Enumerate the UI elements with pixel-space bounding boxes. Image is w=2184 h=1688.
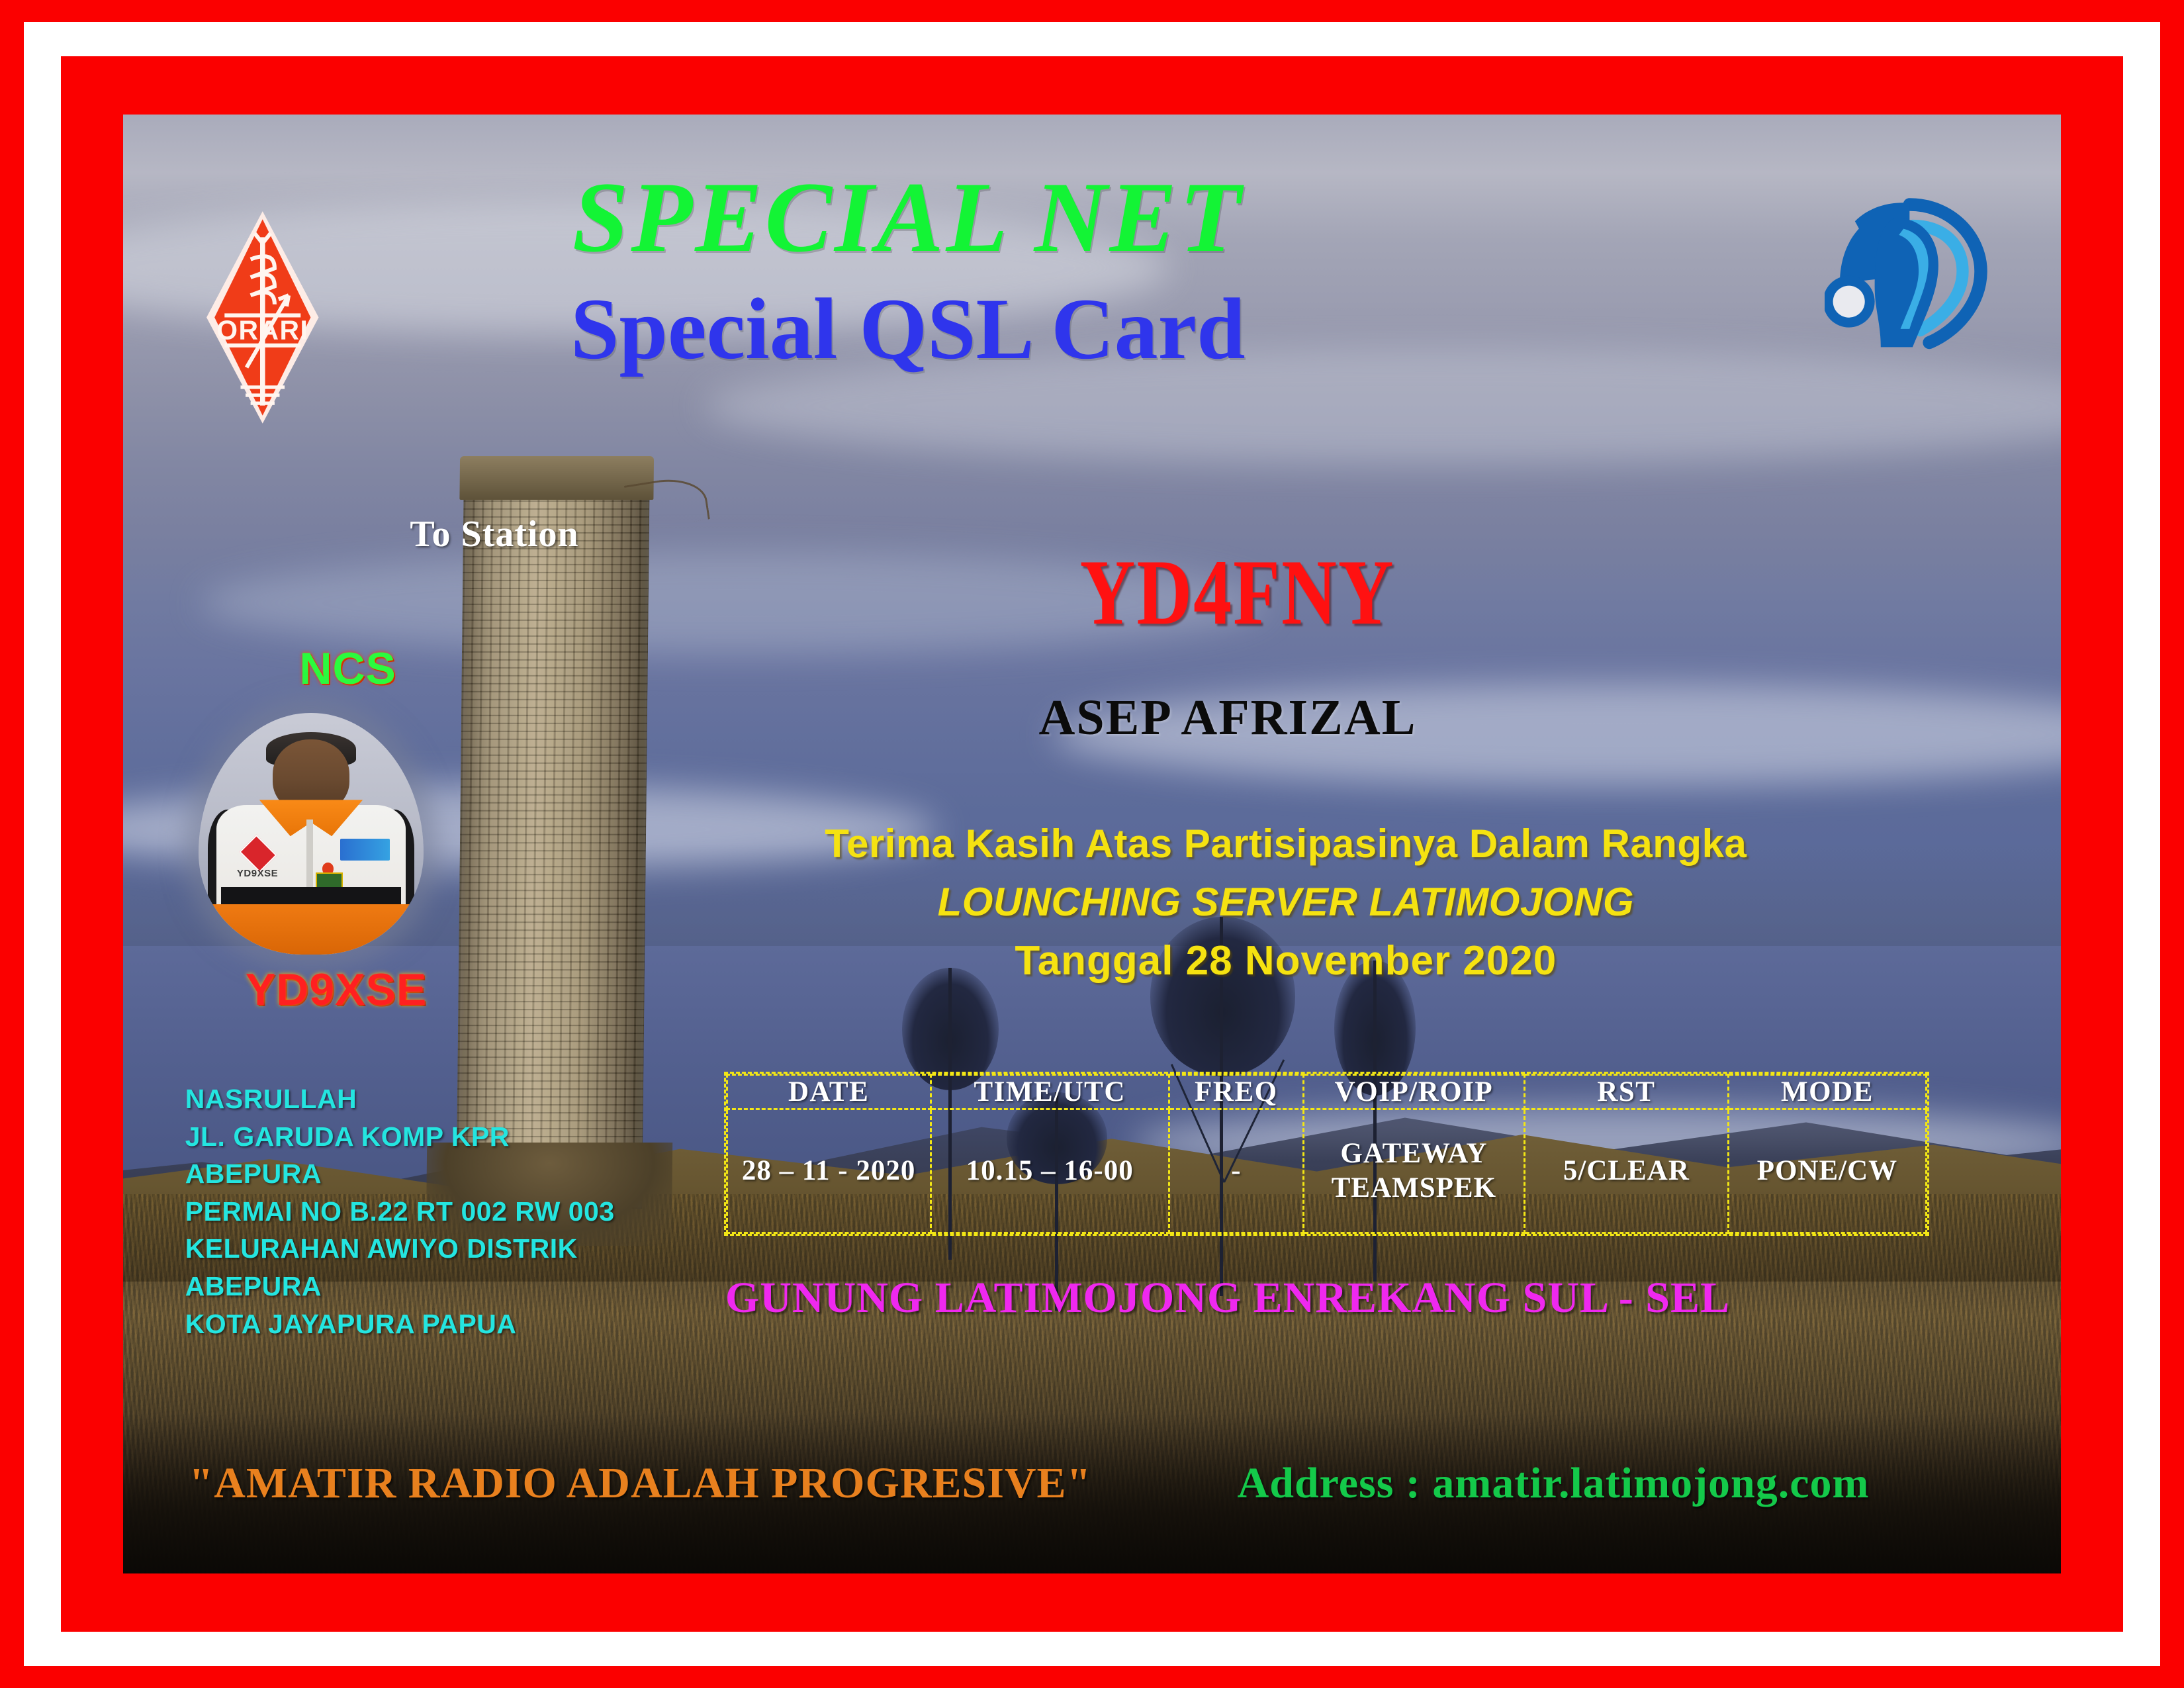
address-line: ABEPURA — [185, 1155, 615, 1193]
column-header-time-utc: TIME/UTC — [931, 1074, 1169, 1109]
photo-shirt-callsign: YD9XSE — [237, 868, 278, 879]
page-subtitle-special-qsl-card: Special QSL Card — [307, 285, 1508, 373]
page-title-special-net: SPECIAL NET — [307, 167, 1508, 267]
cell-date: 28 – 11 - 2020 — [727, 1109, 931, 1233]
address-line: NASRULLAH — [185, 1080, 615, 1118]
qso-log-table: DATE TIME/UTC FREQ VOIP/ROIP RST MODE — [724, 1072, 1929, 1236]
cell-mode: PONE/CW — [1728, 1109, 1926, 1233]
cell-time: 10.15 – 16-00 — [931, 1109, 1169, 1233]
station-callsign: YD4FNY — [966, 546, 1509, 640]
cell-rst: 5/CLEAR — [1524, 1109, 1728, 1233]
photo-uniform-badge — [340, 839, 390, 861]
column-header-freq: FREQ — [1169, 1074, 1303, 1109]
ncs-callsign: YD9XSE — [181, 964, 491, 1015]
column-header-voip-roip: VOIP/ROIP — [1303, 1074, 1524, 1109]
to-station-label: To Station — [410, 513, 578, 555]
ncs-operator-photo: YD9XSE — [199, 713, 424, 955]
thanks-line-2-event: LOUNCHING SERVER LATIMOJONG — [782, 879, 1790, 925]
operator-name: ASEP AFRIZAL — [898, 689, 1557, 747]
slogan-text: "AMATIR RADIO ADALAH PROGRESIVE" — [189, 1458, 1092, 1509]
headset-profile-waves-icon — [1825, 144, 1999, 399]
cell-voip: GATEWAY TEAMSPEK — [1303, 1109, 1524, 1233]
table-row: 28 – 11 - 2020 10.15 – 16-00 - GATEWAY T… — [727, 1109, 1926, 1233]
address-line: PERMAI NO B.22 RT 002 RW 003 — [185, 1193, 615, 1231]
photo-uniform-belt — [221, 887, 401, 904]
table-header-row: DATE TIME/UTC FREQ VOIP/ROIP RST MODE — [727, 1074, 1926, 1109]
ncs-label: NCS — [232, 643, 464, 694]
web-address-text: Address : amatir.latimojong.com — [1238, 1458, 1870, 1509]
orari-logo-icon: ORARI — [203, 150, 323, 485]
location-text: GUNUNG LATIMOJONG ENREKANG SUL - SEL — [627, 1273, 1828, 1323]
photo-uniform-lower — [212, 904, 410, 955]
column-header-mode: MODE — [1728, 1074, 1926, 1109]
card-white-gap: ORARI — [24, 22, 2160, 1666]
card-inner-red-border: ORARI — [61, 56, 2123, 1632]
cell-voip-line-2: TEAMSPEK — [1332, 1172, 1496, 1203]
ncs-address-block: NASRULLAH JL. GARUDA KOMP KPR ABEPURA PE… — [185, 1080, 615, 1342]
svg-text:ORARI: ORARI — [216, 315, 308, 346]
address-line: ABEPURA — [185, 1268, 615, 1305]
cell-freq: - — [1169, 1109, 1303, 1233]
card-overlay-layer: ORARI — [123, 115, 2061, 1573]
photo-uniform-placket — [306, 820, 313, 892]
qsl-card-frame: ORARI — [0, 0, 2184, 1688]
address-line: KELURAHAN AWIYO DISTRIK — [185, 1230, 615, 1268]
thanks-line-3-date: Tanggal 28 November 2020 — [782, 937, 1790, 984]
cell-voip-line-1: GATEWAY — [1340, 1138, 1487, 1169]
address-line: KOTA JAYAPURA PAPUA — [185, 1305, 615, 1343]
card-background-photo: ORARI — [123, 115, 2061, 1573]
column-header-date: DATE — [727, 1074, 931, 1109]
address-line: JL. GARUDA KOMP KPR — [185, 1118, 615, 1156]
thanks-line-1: Terima Kasih Atas Partisipasinya Dalam R… — [782, 821, 1790, 867]
column-header-rst: RST — [1524, 1074, 1728, 1109]
